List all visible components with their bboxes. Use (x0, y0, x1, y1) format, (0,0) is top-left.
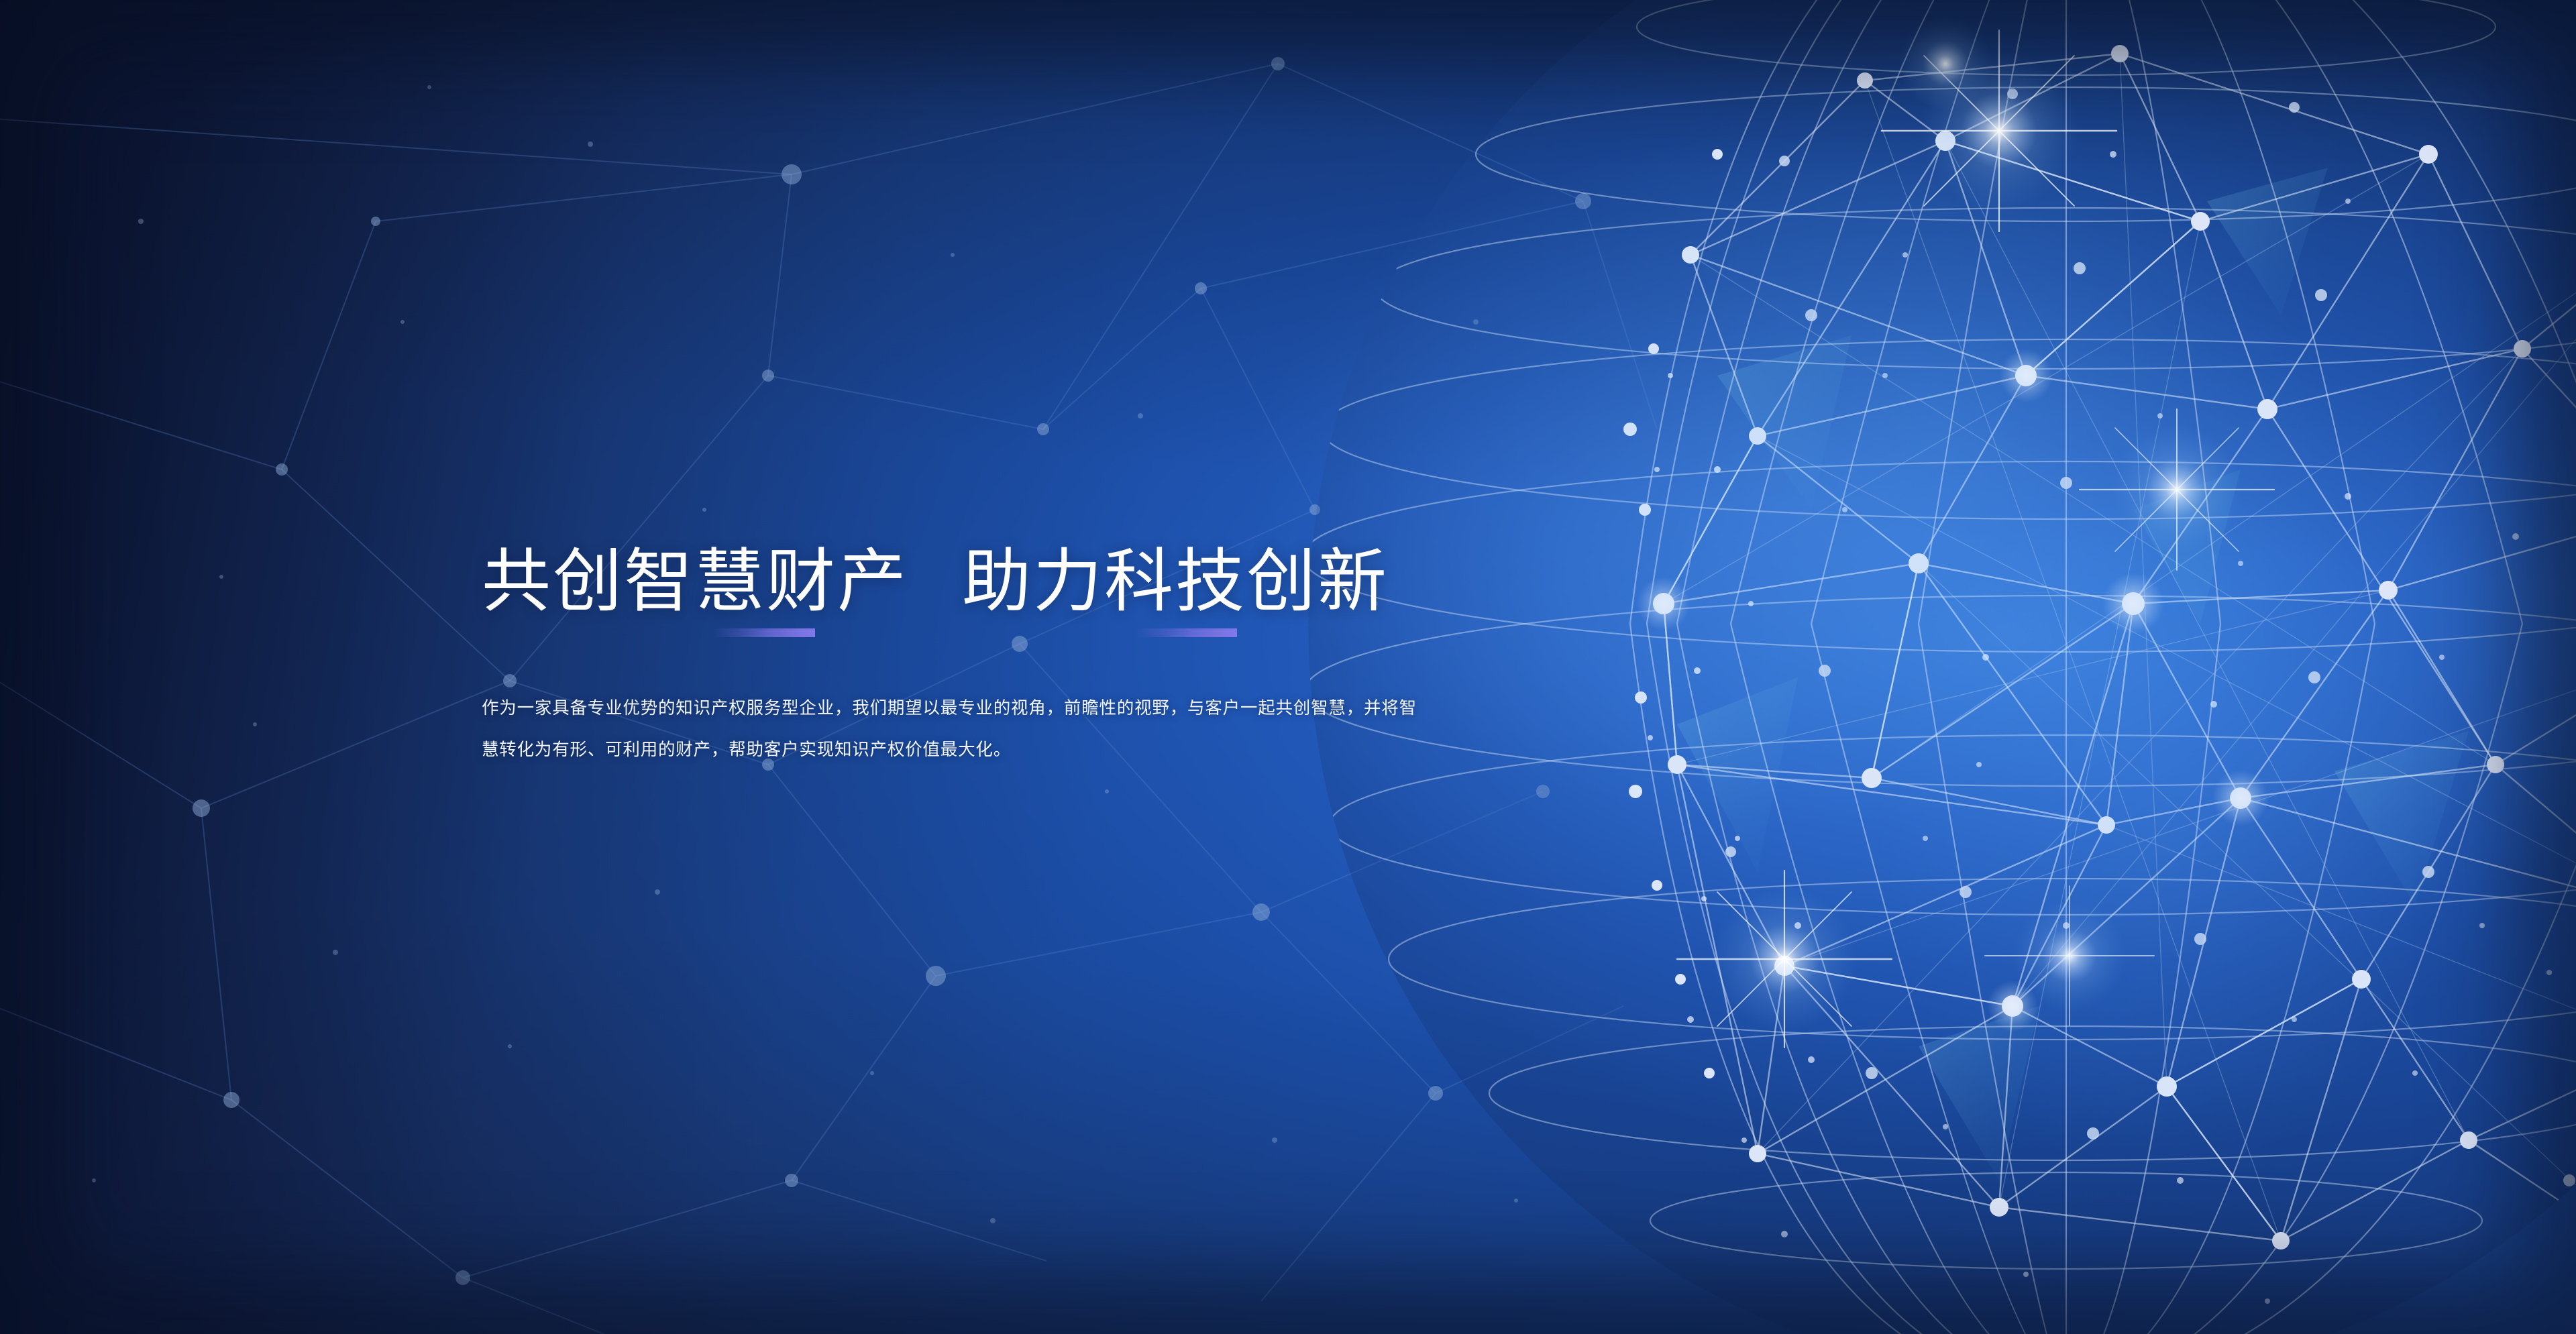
banner-content: 共创智慧财产 助力科技创新 作为一家具备专业优势的知识产权服务型企业，我们期望以… (482, 543, 1488, 788)
banner-description: 作为一家具备专业优势的知识产权服务型企业，我们期望以最专业的视角，前瞻性的视野，… (482, 687, 1434, 771)
headline-phrase-1: 共创智慧财产 (482, 543, 908, 619)
headline-phrase-1-text: 共创智慧财产 (482, 543, 908, 619)
banner-stage: 共创智慧财产 助力科技创新 作为一家具备专业优势的知识产权服务型企业，我们期望以… (0, 0, 2576, 1334)
headline-accent-bar-1 (713, 628, 815, 637)
headline-phrase-2: 助力科技创新 (962, 543, 1389, 619)
headline-phrase-2-text: 助力科技创新 (962, 543, 1389, 619)
headline: 共创智慧财产 助力科技创新 (482, 543, 1488, 619)
headline-accent-bar-2 (1135, 628, 1237, 637)
